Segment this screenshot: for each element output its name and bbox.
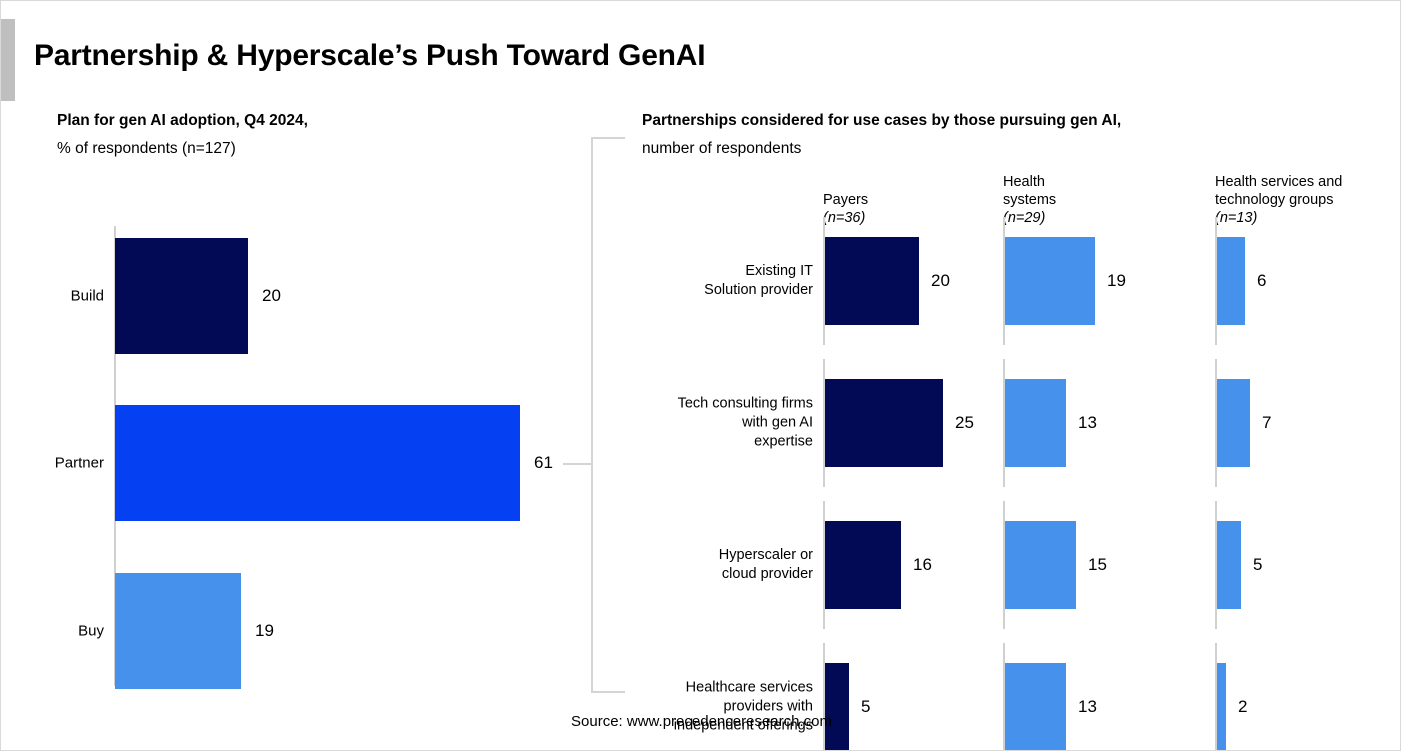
right-chart-value-label: 6 [1257, 271, 1266, 291]
bracket-connector [591, 137, 627, 693]
right-chart-value-label: 20 [931, 271, 950, 291]
right-chart-bar[interactable] [825, 663, 849, 751]
right-chart-column-header-name: Payers [823, 191, 868, 209]
left-chart-value-label: 61 [534, 453, 553, 473]
left-chart-value-label: 19 [255, 621, 274, 641]
bracket-bottom-tip [591, 691, 625, 693]
right-chart-subtitle-line2: number of respondents [642, 135, 1121, 163]
right-chart-subtitle: Partnerships considered for use cases by… [642, 107, 1121, 163]
right-chart-row: Healthcare servicesproviders withindepen… [625, 647, 1401, 751]
left-chart-subtitle: Plan for gen AI adoption, Q4 2024, % of … [57, 107, 308, 163]
left-chart-value-label: 20 [262, 286, 281, 306]
right-chart-bar[interactable] [1005, 237, 1095, 325]
bracket-spine [591, 137, 593, 693]
right-chart-row: Tech consulting firmswith gen AIexpertis… [625, 363, 1401, 483]
right-chart-bar[interactable] [825, 521, 901, 609]
right-chart-row: Existing ITSolution provider20196 [625, 221, 1401, 341]
right-chart-bar[interactable] [1217, 521, 1241, 609]
left-chart-subtitle-line2: % of respondents (n=127) [57, 135, 308, 163]
slide-canvas: Partnership & Hyperscale’s Push Toward G… [0, 0, 1401, 751]
page-title: Partnership & Hyperscale’s Push Toward G… [34, 39, 705, 73]
left-chart-bar[interactable] [115, 238, 248, 354]
left-chart-category-label: Build [71, 288, 104, 305]
left-chart-row: Buy19 [1, 571, 601, 691]
left-chart-category-label: Partner [55, 455, 104, 472]
right-chart-column-header: Healthsystems(n=29) [1003, 173, 1056, 227]
left-chart-row: Build20 [1, 236, 601, 356]
right-chart-column-header-name: technology groups [1215, 191, 1342, 209]
right-chart-bar[interactable] [1217, 663, 1226, 751]
right-chart-value-label: 5 [1253, 555, 1262, 575]
right-chart-bar[interactable] [825, 237, 919, 325]
left-bar-chart: Build20Partner61Buy19 [1, 191, 601, 701]
right-chart-value-label: 19 [1107, 271, 1126, 291]
right-chart-row: Hyperscaler orcloud provider16155 [625, 505, 1401, 625]
right-chart-value-label: 15 [1088, 555, 1107, 575]
right-chart-column-header-name: Health [1003, 173, 1056, 191]
right-chart-value-label: 13 [1078, 413, 1097, 433]
right-chart-row-label: Hyperscaler orcloud provider [625, 546, 813, 584]
bracket-partner-stub [563, 463, 591, 465]
source-caption: Source: www.precedenceresearch.com [1, 713, 1401, 730]
right-chart-bar[interactable] [1005, 379, 1066, 467]
right-chart-row-label: Tech consulting firmswith gen AIexpertis… [625, 395, 813, 452]
right-chart-column-header-name: systems [1003, 191, 1056, 209]
right-chart-bar[interactable] [1217, 237, 1245, 325]
left-chart-category-label: Buy [78, 623, 104, 640]
right-chart-value-label: 7 [1262, 413, 1271, 433]
right-chart-value-label: 16 [913, 555, 932, 575]
right-chart-column-header-name: Health services and [1215, 173, 1342, 191]
right-chart-row-label: Existing ITSolution provider [625, 262, 813, 300]
bracket-top-tip [591, 137, 625, 139]
left-chart-bar[interactable] [115, 405, 520, 521]
right-chart-bar[interactable] [1217, 379, 1250, 467]
left-chart-bar[interactable] [115, 573, 241, 689]
right-chart-bar[interactable] [1005, 663, 1066, 751]
slide-accent-bar [1, 19, 15, 101]
right-chart-bar[interactable] [1005, 521, 1076, 609]
right-chart-bar[interactable] [825, 379, 943, 467]
left-chart-subtitle-line1: Plan for gen AI adoption, Q4 2024, [57, 107, 308, 135]
left-chart-row: Partner61 [1, 403, 601, 523]
right-bar-chart: Payers(n=36)Healthsystems(n=29)Health se… [625, 161, 1401, 691]
right-chart-column-header: Health services andtechnology groups(n=1… [1215, 173, 1342, 227]
right-chart-value-label: 25 [955, 413, 974, 433]
right-chart-subtitle-line1: Partnerships considered for use cases by… [642, 107, 1121, 135]
